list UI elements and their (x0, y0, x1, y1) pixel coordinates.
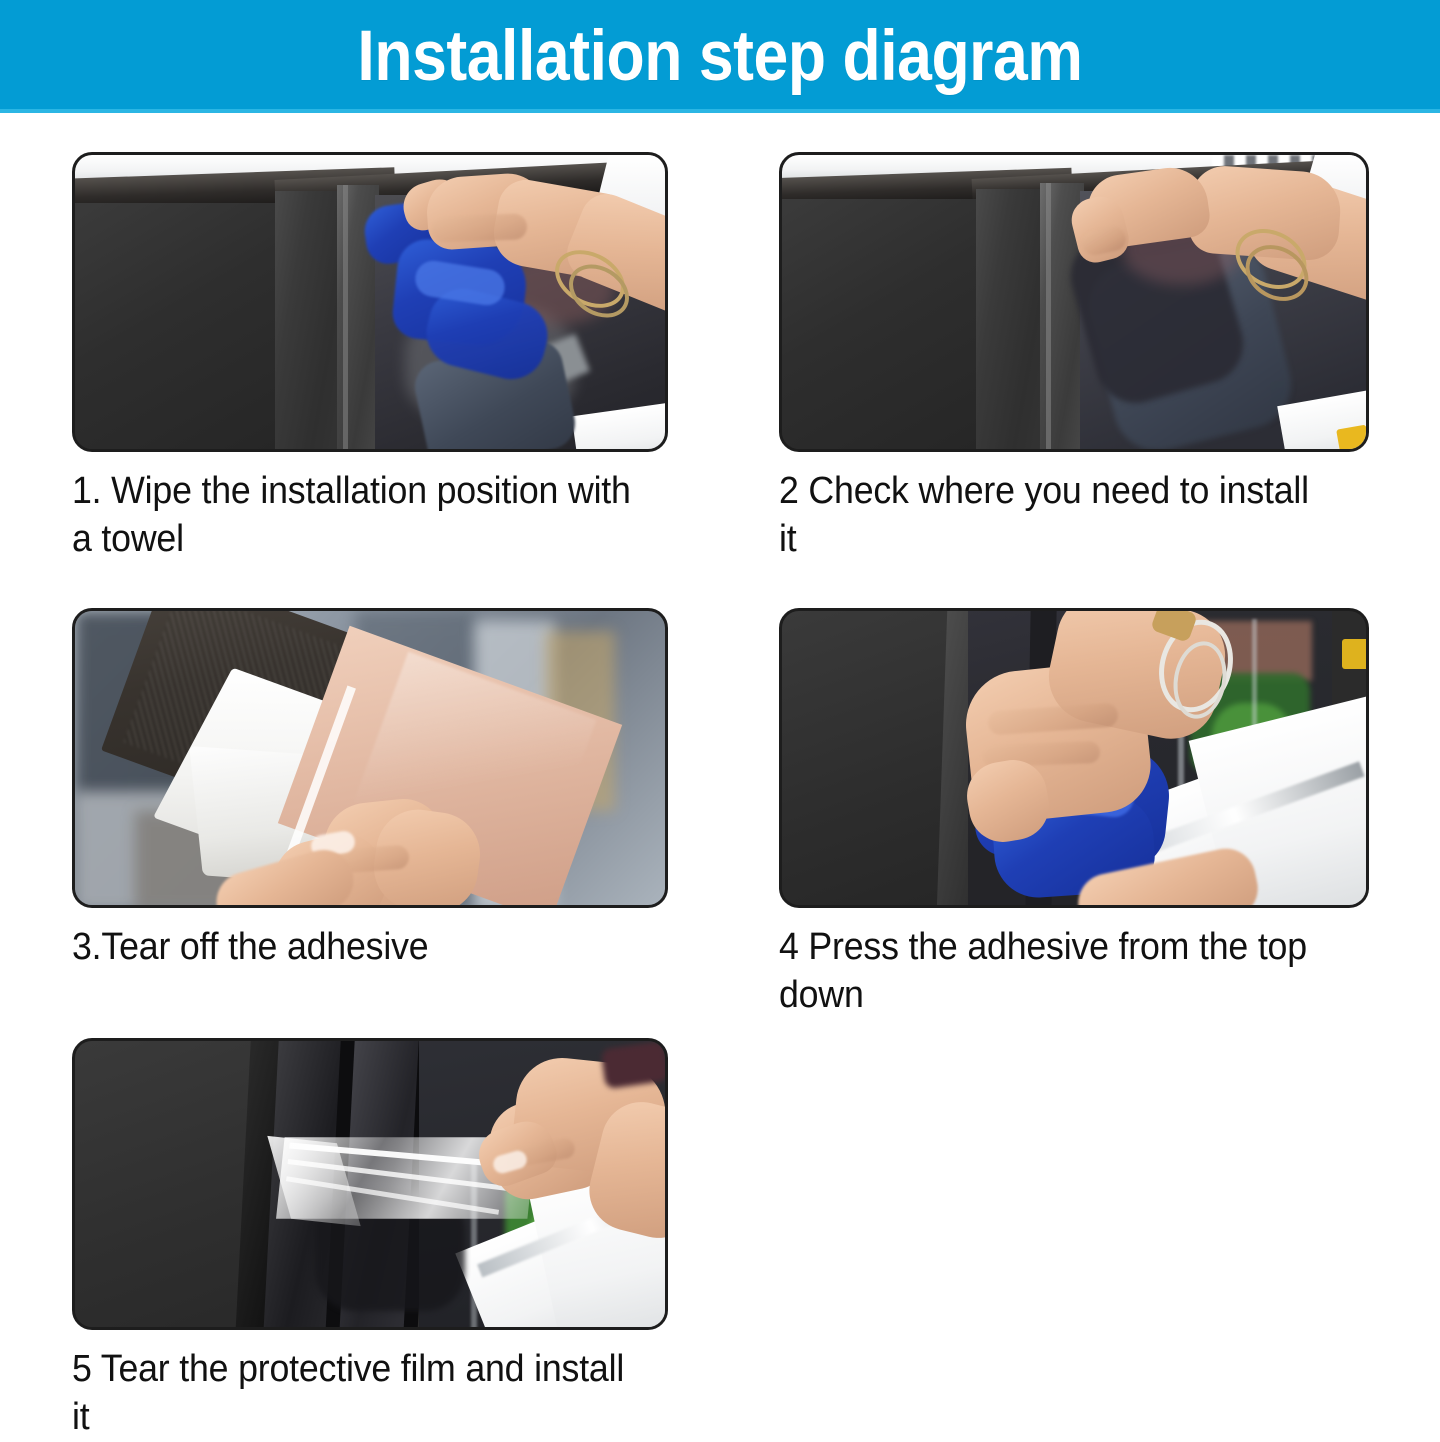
scene-wipe-pillar (75, 155, 665, 449)
steps-container: 1. Wipe the installation position with a… (0, 113, 1440, 1440)
step-photo-3 (72, 608, 668, 908)
step-caption-1: 1. Wipe the installation position with a… (72, 468, 632, 564)
step-item-4: 4 Press the adhesive from the top down (779, 608, 1369, 1020)
page-header: Installation step diagram (0, 0, 1440, 113)
step-photo-1 (72, 152, 668, 452)
scene-peel-adhesive (75, 611, 665, 905)
step-caption-2: 2 Check where you need to install it (779, 468, 1334, 564)
scene-check-position (782, 155, 1366, 449)
step-photo-4 (779, 608, 1369, 908)
step-caption-5: 5 Tear the protective film and install i… (72, 1346, 632, 1442)
page-title: Installation step diagram (357, 21, 1082, 92)
step-item-3: 3.Tear off the adhesive (72, 608, 668, 972)
step-caption-4: 4 Press the adhesive from the top down (779, 924, 1334, 1020)
step-item-2: 2 Check where you need to install it (779, 152, 1369, 564)
step-caption-3: 3.Tear off the adhesive (72, 924, 632, 972)
step-photo-5 (72, 1038, 668, 1330)
step-item-5: 5 Tear the protective film and install i… (72, 1038, 668, 1442)
step-item-1: 1. Wipe the installation position with a… (72, 152, 668, 564)
scene-press-adhesive (782, 611, 1366, 905)
scene-peel-film (75, 1041, 665, 1327)
step-photo-2 (779, 152, 1369, 452)
